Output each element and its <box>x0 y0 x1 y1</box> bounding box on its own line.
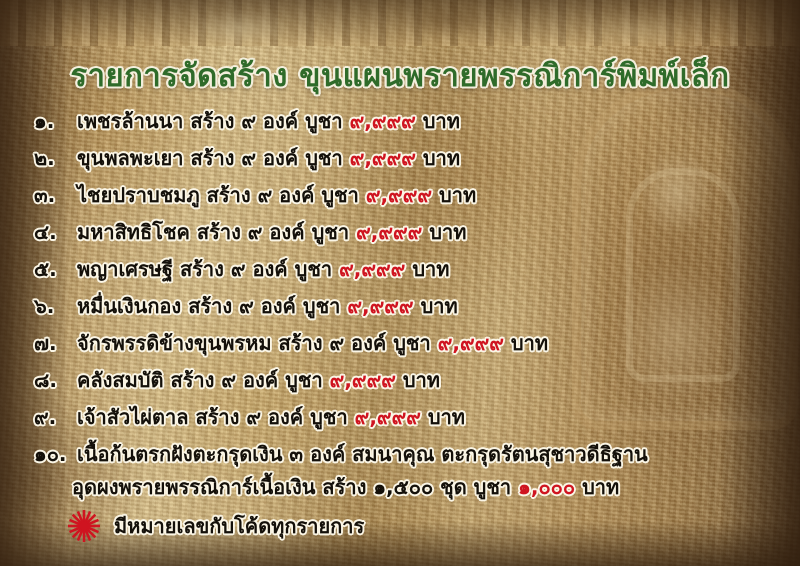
list-item-quantity: สร้าง ๙ องค์ <box>195 401 303 433</box>
list-item-number: ๖. <box>34 290 70 322</box>
list-item-currency: บาท <box>511 327 548 359</box>
page-title: รายการจัดสร้าง ขุนแผนพรายพรรณิการ์พิมพ์เ… <box>0 50 800 100</box>
list-item-quantity: สร้าง ๙ องค์ <box>191 142 299 174</box>
list-item-quantity: สร้าง ๙ องค์ <box>180 253 288 285</box>
list-item-price: ๙,๙๙๙ <box>355 401 421 433</box>
list-item-description: เนื้อก้นตรกฝังตะกรุดเงิน ๓ องค์ สมนาคุณ … <box>77 438 648 470</box>
list-item: ๘. คลังสมบัติ สร้าง ๙ องค์ บูชา ๙,๙๙๙ บา… <box>34 364 766 401</box>
list-item-ten-line-1: ๑๐. เนื้อก้นตรกฝังตะกรุดเงิน ๓ องค์ สมนา… <box>34 438 766 471</box>
footer-note-label: มีหมายเลขกับโค้ดทุกรายการ <box>114 510 364 542</box>
list-item-worship-label: บูชา <box>310 401 348 433</box>
list-item-currency: บาท <box>428 401 465 433</box>
list-item-currency: บาท <box>403 364 440 396</box>
list-item-quantity: สร้าง ๙ องค์ <box>188 290 296 322</box>
list-item-name: คลังสมบัติ <box>77 364 163 396</box>
list-item-number: ๗. <box>34 327 70 359</box>
red-starburst-icon <box>66 508 102 544</box>
list-item-price: ๙,๙๙๙ <box>366 179 432 211</box>
list-item-worship-label: บูชา <box>305 105 343 137</box>
list-item-currency: บาท <box>429 216 466 248</box>
list-item-quantity: สร้าง ๙ องค์ <box>207 179 315 211</box>
list-item-currency: บาท <box>421 290 458 322</box>
list-item-name: มหาสิทธิโชค <box>77 216 190 248</box>
list-item-price: ๙,๙๙๙ <box>330 364 396 396</box>
list-item-number: ๑๐. <box>34 438 70 470</box>
list-item-worship-label: บูชา <box>312 216 350 248</box>
list-item-number: ๓. <box>34 179 70 211</box>
list-item-worship-label: บูชา <box>303 290 341 322</box>
list-item-name: จักรพรรดิข้างขุนพรหม <box>77 327 272 359</box>
list-item: ๗. จักรพรรดิข้างขุนพรหม สร้าง ๙ องค์ บูช… <box>34 327 766 364</box>
list-item-number: ๔. <box>34 216 70 248</box>
list-item-number: ๕. <box>34 253 70 285</box>
list-item: ๓. ไชยปราบชมภู สร้าง ๙ องค์ บูชา ๙,๙๙๙ บ… <box>34 179 766 216</box>
list-item-number: ๙. <box>34 401 70 433</box>
list-item-currency: บาท <box>423 105 460 137</box>
list-item-price: ๙,๙๙๙ <box>438 327 504 359</box>
list-item-number: ๒. <box>34 142 70 174</box>
poster-content: รายการจัดสร้าง ขุนแผนพรายพรรณิการ์พิมพ์เ… <box>0 0 800 566</box>
list-item-quantity: สร้าง ๙ องค์ <box>170 364 278 396</box>
list-item-price: ๙,๙๙๙ <box>350 105 416 137</box>
list-item-ten-currency: บาท <box>582 471 619 503</box>
list-item-worship-label: บูชา <box>393 327 431 359</box>
list-item-price: ๙,๙๙๙ <box>356 216 422 248</box>
list-item: ๖. หมื่นเงินกอง สร้าง ๙ องค์ บูชา ๙,๙๙๙ … <box>34 290 766 327</box>
list-item-name: เจ้าสัวไผ่ตาล <box>77 401 188 433</box>
list-item: ๕. พญาเศรษฐี สร้าง ๙ องค์ บูชา ๙,๙๙๙ บาท <box>34 253 766 290</box>
poster-canvas: รายการจัดสร้าง ขุนแผนพรายพรรณิการ์พิมพ์เ… <box>0 0 800 566</box>
list-item-name: หมื่นเงินกอง <box>77 290 181 322</box>
list-item-ten-price: ๑,๐๐๐ <box>518 471 575 503</box>
list-item: ๑. เพชรล้านนา สร้าง ๙ องค์ บูชา ๙,๙๙๙ บา… <box>34 105 766 142</box>
list-item-number: ๑. <box>34 105 70 137</box>
list-item-price: ๙,๙๙๙ <box>350 142 416 174</box>
list-item-quantity: สร้าง ๙ องค์ <box>279 327 387 359</box>
list-item-ten-line-2: อุดผงพรายพรรณิการ์เนื้อเงิน สร้าง ๑,๕๐๐ … <box>34 471 766 504</box>
list-item-name: ขุนพลพะเยา <box>77 142 184 174</box>
list-item: ๒. ขุนพลพะเยา สร้าง ๙ องค์ บูชา ๙,๙๙๙ บา… <box>34 142 766 179</box>
list-item-worship-label: บูชา <box>321 179 359 211</box>
list-item-currency: บาท <box>412 253 449 285</box>
footer-note: มีหมายเลขกับโค้ดทุกรายการ <box>66 508 364 544</box>
list-item-worship-label: บูชา <box>285 364 323 396</box>
list-item-number: ๘. <box>34 364 70 396</box>
list-item: ๙. เจ้าสัวไผ่ตาล สร้าง ๙ องค์ บูชา ๙,๙๙๙… <box>34 401 766 438</box>
list-item-worship-label: บูชา <box>305 142 343 174</box>
list-item-quantity: สร้าง ๙ องค์ <box>190 105 298 137</box>
list-item-description-continued: อุดผงพรายพรรณิการ์เนื้อเงิน สร้าง ๑,๕๐๐ … <box>72 471 511 503</box>
list-item-quantity: สร้าง ๙ องค์ <box>197 216 305 248</box>
list-item-name: พญาเศรษฐี <box>77 253 173 285</box>
list-item-worship-label: บูชา <box>295 253 333 285</box>
list-item-price: ๙,๙๙๙ <box>339 253 405 285</box>
list-item-currency: บาท <box>439 179 476 211</box>
list-item-name: ไชยปราบชมภู <box>77 179 200 211</box>
amulet-list: ๑. เพชรล้านนา สร้าง ๙ องค์ บูชา ๙,๙๙๙ บา… <box>34 105 766 504</box>
list-item: ๔. มหาสิทธิโชค สร้าง ๙ องค์ บูชา ๙,๙๙๙ บ… <box>34 216 766 253</box>
list-item-name: เพชรล้านนา <box>77 105 183 137</box>
list-item-currency: บาท <box>423 142 460 174</box>
list-item-price: ๙,๙๙๙ <box>347 290 413 322</box>
